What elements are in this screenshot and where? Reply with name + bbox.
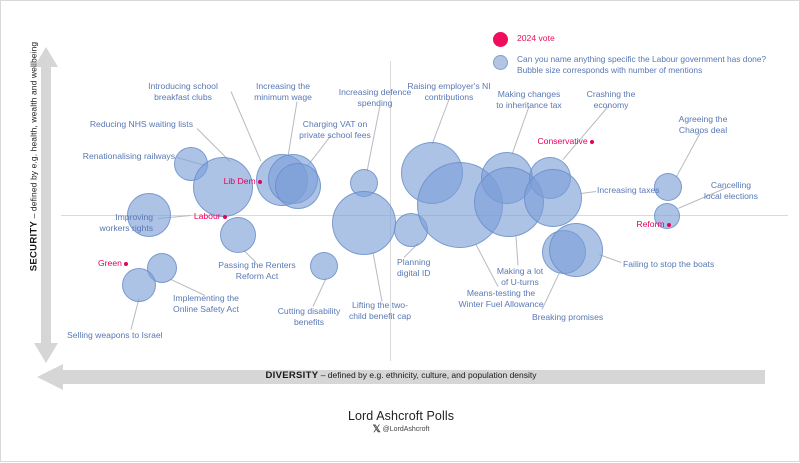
party-dot-icon bbox=[590, 140, 594, 144]
bubble-label: Making a lot of U-turns bbox=[485, 266, 555, 288]
chart-page: SECURITY – defined by e.g. health, wealt… bbox=[0, 0, 800, 462]
party-label: Labour bbox=[194, 211, 221, 221]
handle-text: @LordAshcroft bbox=[383, 426, 430, 433]
label-leader-line bbox=[432, 99, 450, 144]
bubble-label: Selling weapons to Israel bbox=[67, 330, 183, 341]
label-leader-line bbox=[373, 252, 383, 301]
bubble-increasing-taxes[interactable] bbox=[524, 169, 582, 227]
bubble-label: Introducing school breakfast clubs bbox=[137, 81, 229, 103]
bubble-label: Breaking promises bbox=[532, 312, 624, 323]
label-leader-line bbox=[563, 105, 610, 160]
bubble-label: Reducing NHS waiting lists bbox=[69, 119, 193, 130]
brand-name: Lord Ashcroft Polls bbox=[1, 409, 800, 423]
party-dot-icon bbox=[124, 262, 128, 266]
label-leader-line bbox=[512, 106, 530, 154]
bubble-failing-to-stop-the-boats[interactable] bbox=[549, 223, 603, 277]
bubble-label: Agreeing the Chagos deal bbox=[665, 114, 741, 136]
bubble-label: Charging VAT on private school fees bbox=[286, 119, 384, 141]
party-dot-icon bbox=[667, 223, 671, 227]
bubble-label: Planning digital ID bbox=[397, 257, 457, 279]
social-handle: 𝕏@LordAshcroft bbox=[1, 424, 800, 435]
party-marker-conservative: Conservative bbox=[532, 136, 594, 146]
legend-item-bubble: Can you name anything specific the Labou… bbox=[493, 54, 783, 76]
party-label: Green bbox=[98, 258, 122, 268]
party-label: Reform bbox=[636, 219, 664, 229]
party-label: Lib Dem bbox=[224, 176, 256, 186]
label-leader-line bbox=[313, 278, 327, 306]
bubble-selling-weapons-to-israel[interactable] bbox=[122, 268, 156, 302]
label-leader-line bbox=[676, 131, 702, 177]
bubble-label: Increasing the minimum wage bbox=[244, 81, 322, 103]
legend-bubble-question: Can you name anything specific the Labou… bbox=[517, 54, 766, 65]
bubble-label: Implementing the Online Safety Act bbox=[161, 293, 251, 315]
bubble-label: Cancelling local elections bbox=[691, 180, 771, 202]
party-marker-labour: Labour bbox=[165, 211, 227, 221]
label-leader-line bbox=[131, 298, 140, 329]
footer: Lord Ashcroft Polls 𝕏@LordAshcroft bbox=[1, 409, 800, 435]
legend-item-vote: 2024 vote bbox=[493, 31, 783, 47]
bubble-swatch-icon bbox=[493, 55, 508, 70]
bubble-label: Improving workers rights bbox=[79, 212, 153, 234]
party-marker-lib-dem: Lib Dem bbox=[200, 176, 262, 186]
bubble-label: Lifting the two- child benefit cap bbox=[335, 300, 425, 322]
bubble-label: Crashing the economy bbox=[574, 89, 648, 111]
bubble-charging-vat-on-private-school-fees[interactable] bbox=[275, 163, 321, 209]
legend-bubble-note: Bubble size corresponds with number of m… bbox=[517, 65, 766, 76]
bubble-label: Failing to stop the boats bbox=[623, 259, 733, 270]
party-marker-reform: Reform bbox=[609, 219, 671, 229]
bubble-label: Increasing taxes bbox=[597, 185, 675, 196]
party-dot-icon bbox=[258, 180, 262, 184]
bubble-passing-the-renters-reform-act[interactable] bbox=[220, 217, 256, 253]
legend-vote-label: 2024 vote bbox=[517, 31, 555, 46]
bubble-label: Making changes to inheritance tax bbox=[481, 89, 577, 111]
bubble-cutting-disability-benefits[interactable] bbox=[310, 252, 338, 280]
party-marker-green: Green bbox=[98, 258, 128, 268]
vote-dot-icon bbox=[493, 32, 508, 47]
party-dot-icon bbox=[223, 215, 227, 219]
legend: 2024 vote Can you name anything specific… bbox=[493, 31, 783, 83]
party-label: Conservative bbox=[537, 136, 587, 146]
label-leader-line bbox=[581, 191, 596, 194]
bubble-label: Passing the Renters Reform Act bbox=[209, 260, 305, 282]
bubble-reducing-nhs-waiting-lists[interactable] bbox=[193, 157, 253, 217]
bubble-label: Renationalising railways bbox=[71, 151, 175, 162]
bubble-lifting-the-two-child-benefit-cap[interactable] bbox=[332, 191, 396, 255]
label-leader-line bbox=[516, 236, 519, 265]
x-logo-icon: 𝕏 bbox=[373, 424, 381, 435]
bubble-label: Means-testing the Winter Fuel Allowance bbox=[447, 288, 555, 310]
